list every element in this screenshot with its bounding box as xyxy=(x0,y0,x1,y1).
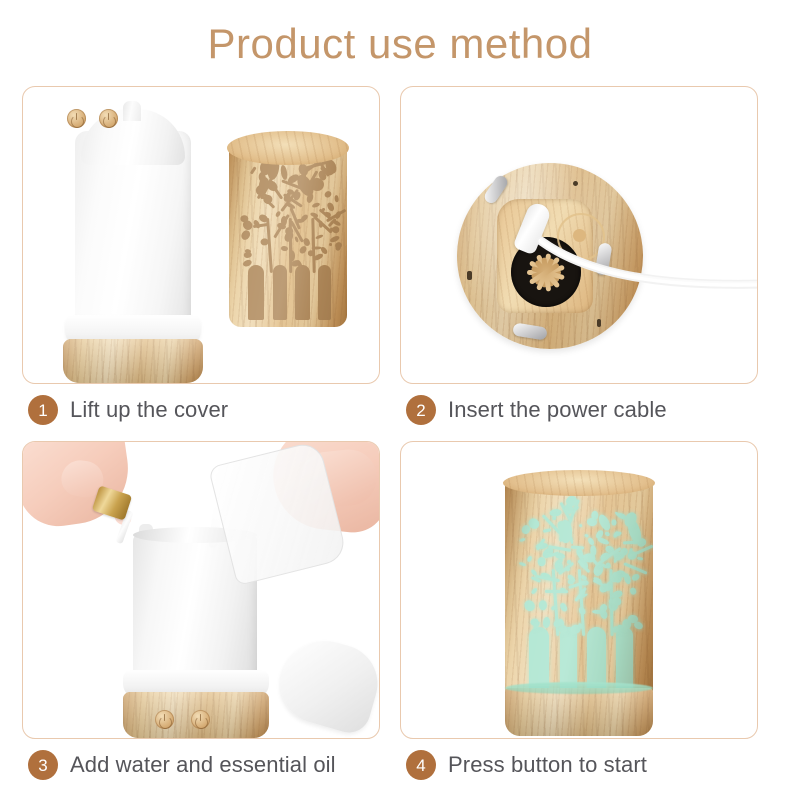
step-3-caption-text: Add water and essential oil xyxy=(70,752,336,778)
cutout-opening xyxy=(519,562,526,567)
cutout-opening xyxy=(631,573,641,582)
step-4-badge: 4 xyxy=(406,750,436,780)
cutout-opening xyxy=(315,234,323,240)
cutout-opening xyxy=(258,177,269,193)
cutout-opening xyxy=(559,602,569,613)
cutout-opening xyxy=(266,218,273,273)
step-2-illustration xyxy=(401,87,757,383)
step-2-caption: 2 Insert the power cable xyxy=(406,388,667,432)
cutout-opening xyxy=(334,195,338,203)
step-1-caption: 1 Lift up the cover xyxy=(28,388,228,432)
step-1: 1 Lift up the cover xyxy=(22,86,400,442)
cutout-opening xyxy=(543,528,552,532)
cutout-opening xyxy=(571,545,584,549)
cutout-opening xyxy=(612,519,617,526)
cutout-opening xyxy=(244,248,251,253)
cutout-opening xyxy=(295,265,310,320)
cutout-opening xyxy=(519,538,526,543)
cutout-opening xyxy=(318,265,332,320)
assembled-diffuser xyxy=(505,480,653,702)
screw-hole xyxy=(573,181,578,186)
cutout-opening xyxy=(623,573,632,586)
cutout-opening xyxy=(273,265,287,320)
cutout-opening xyxy=(538,557,546,567)
cutout-opening xyxy=(539,600,547,610)
cutout-opening xyxy=(332,227,340,234)
tree-cutout-shell xyxy=(505,480,653,702)
cutout-opening xyxy=(523,598,537,613)
step-3-badge: 3 xyxy=(28,750,58,780)
step-2-badge: 2 xyxy=(406,395,436,425)
screw-hole xyxy=(597,319,601,327)
cutout-opening xyxy=(312,218,316,273)
cutout-opening xyxy=(578,606,587,616)
cutout-opening xyxy=(605,531,611,537)
cutout-opening xyxy=(311,202,320,208)
cutout-opening xyxy=(629,587,637,595)
cutout-opening xyxy=(250,166,257,174)
steps-grid: 1 Lift up the cover xyxy=(0,86,800,800)
step-2-caption-text: Insert the power cable xyxy=(448,397,667,423)
cutout-opening xyxy=(329,243,332,246)
cutout-opening xyxy=(275,211,282,218)
cutout-opening xyxy=(531,587,538,595)
glow-ring xyxy=(505,682,653,694)
step-3: 3 Add water and essential oil xyxy=(22,441,400,797)
step-4-illustration xyxy=(401,442,757,738)
power-button-icon xyxy=(67,109,86,128)
step-4-caption-text: Press button to start xyxy=(448,752,647,778)
power-cable xyxy=(539,237,758,295)
infographic-page: Product use method xyxy=(0,0,800,800)
cutout-opening xyxy=(597,513,613,532)
top-rim xyxy=(503,470,655,496)
power-button-icon xyxy=(155,710,174,729)
step-2-image-panel xyxy=(400,86,758,384)
step-4-caption: 4 Press button to start xyxy=(406,743,647,787)
cutout-opening xyxy=(578,523,582,527)
step-1-caption-text: Lift up the cover xyxy=(70,397,228,423)
cutout-opening xyxy=(636,556,642,561)
step-1-illustration xyxy=(23,87,379,383)
cover-top-rim xyxy=(227,131,349,165)
page-title: Product use method xyxy=(0,20,800,68)
step-3-image-panel xyxy=(22,441,380,739)
cutout-opening xyxy=(273,187,282,199)
step-4: 4 Press button to start xyxy=(400,441,778,797)
cutout-opening xyxy=(527,555,533,562)
step-1-image-panel xyxy=(22,86,380,384)
wood-base xyxy=(505,688,653,736)
cutout-opening xyxy=(551,516,556,520)
light-button-icon xyxy=(99,109,118,128)
cutout-opening xyxy=(542,616,550,627)
cutout-opening xyxy=(324,190,333,199)
light-button-icon xyxy=(191,710,210,729)
screw-hole xyxy=(467,271,472,280)
cutout-opening xyxy=(545,590,568,593)
cutout-opening xyxy=(633,620,644,630)
wooden-cover xyxy=(229,145,347,327)
step-2: 2 Insert the power cable xyxy=(400,86,778,442)
cutout-opening xyxy=(281,245,288,251)
cutout-opening xyxy=(248,265,265,320)
step-3-caption: 3 Add water and essential oil xyxy=(28,743,336,787)
step-4-image-panel xyxy=(400,441,758,739)
detached-tank-cap xyxy=(271,630,380,737)
step-1-badge: 1 xyxy=(28,395,58,425)
cutout-opening xyxy=(308,250,314,256)
mist-nozzle xyxy=(123,101,141,121)
step-3-illustration xyxy=(23,442,379,738)
wood-base xyxy=(63,339,203,383)
cutout-opening xyxy=(240,229,252,241)
